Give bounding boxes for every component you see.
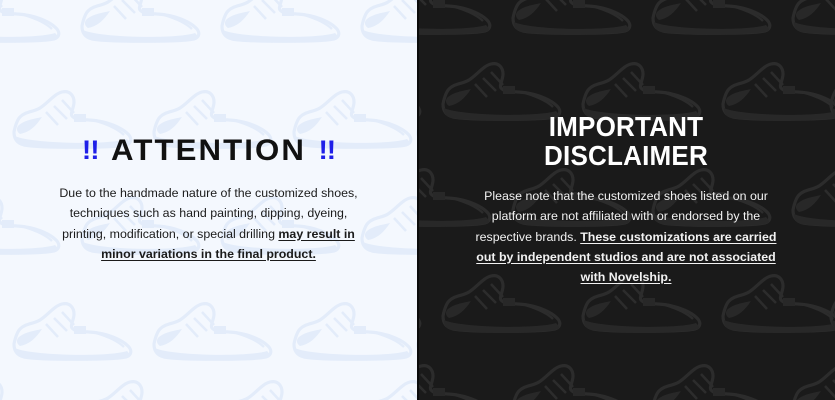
attention-heading-text: ATTENTION [111, 134, 306, 167]
disclaimer-heading: IMPORTANT DISCLAIMER [448, 113, 803, 170]
disclaimer-heading-line1: IMPORTANT [448, 113, 803, 142]
disclaimer-content: IMPORTANT DISCLAIMER Please note that th… [417, 113, 835, 287]
attention-panel: !!ATTENTION!! Due to the handmade nature… [0, 0, 417, 400]
attention-body: Due to the handmade nature of the custom… [59, 183, 359, 263]
disclaimer-body: Please note that the customized shoes li… [470, 186, 782, 286]
dual-notice-banner: !!ATTENTION!! Due to the handmade nature… [0, 0, 835, 400]
exclamation-marks-right-icon: !! [318, 135, 335, 165]
attention-heading: !!ATTENTION!! [10, 136, 406, 166]
disclaimer-panel: IMPORTANT DISCLAIMER Please note that th… [417, 0, 835, 400]
disclaimer-heading-line2: DISCLAIMER [448, 142, 803, 171]
exclamation-marks-left-icon: !! [82, 135, 99, 165]
attention-content: !!ATTENTION!! Due to the handmade nature… [0, 136, 417, 263]
